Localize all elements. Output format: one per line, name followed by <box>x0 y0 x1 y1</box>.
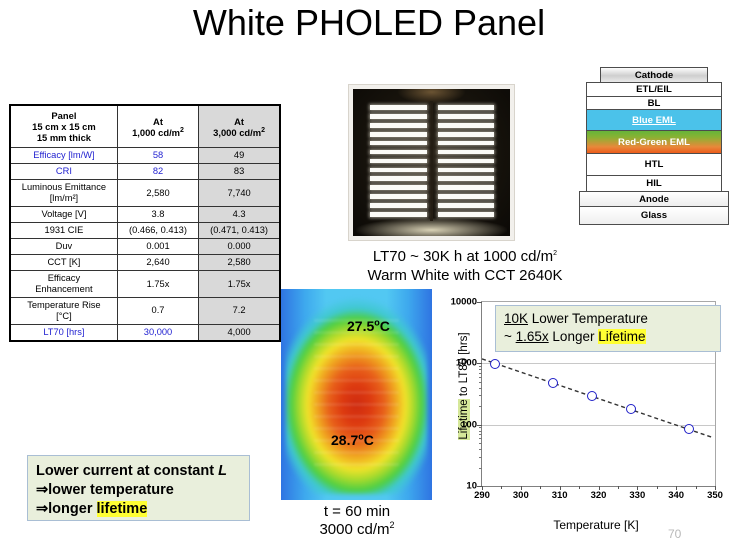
table-cell-value-3000: 4.3 <box>199 207 280 223</box>
stack-layer-bl: BL <box>586 96 722 110</box>
conclusion-note-box: Lower current at constant L ⇒lower tempe… <box>27 455 250 521</box>
table-cell-label: CRI <box>10 164 117 180</box>
stack-label-anode: Anode <box>639 194 669 205</box>
thermal-stripe-overlay <box>314 319 399 475</box>
table-row: Temperature Rise[°C]0.77.2 <box>10 297 280 324</box>
chart-x-tick-mark <box>599 486 600 490</box>
chart-x-tick-label: 350 <box>707 490 723 501</box>
chart-y-tick-label: 10000 <box>451 297 477 308</box>
table-header-row: Panel 15 cm x 15 cm 15 mm thick At 1,000… <box>10 105 280 148</box>
photo-center-divider <box>430 101 433 222</box>
annot-line2-mid: Longer <box>549 329 599 344</box>
note-line-1-italic: L <box>218 463 227 479</box>
oled-stack-diagram: Cathode ETL/EIL BL Blue EML Red-Green EM… <box>578 68 730 225</box>
stack-label-htl: HTL <box>645 159 664 170</box>
table-header-panel: Panel 15 cm x 15 cm 15 mm thick <box>10 105 117 148</box>
header-lum-1: 1,000 cd/m <box>132 127 180 138</box>
chart-x-tick-label: 340 <box>668 490 684 501</box>
stack-label-bl: BL <box>648 98 661 109</box>
chart-x-minor-tick <box>618 486 619 489</box>
temp-bottom-unit: C <box>364 432 374 448</box>
chart-x-minor-tick <box>540 486 541 489</box>
chart-x-tick-mark <box>637 486 638 490</box>
thermal-temp-top: 27.5oC <box>347 318 390 334</box>
thermal-caption: t = 60 min 3000 cd/m2 <box>272 503 442 540</box>
table-cell-value-1000: 30,000 <box>117 324 198 340</box>
table-cell-value-3000: 49 <box>199 148 280 164</box>
table-cell-label: Temperature Rise[°C] <box>10 297 117 324</box>
table-cell-label: 1931 CIE <box>10 223 117 239</box>
header-sup-2: 2 <box>261 127 265 134</box>
note-line-1: Lower current at constant <box>36 463 218 479</box>
header-sup-1: 2 <box>180 127 184 134</box>
thermal-caption-line-2: 3000 cd/m <box>319 521 389 538</box>
thermal-caption-line-1: t = 60 min <box>324 503 390 520</box>
chart-x-tick-label: 310 <box>552 490 568 501</box>
table-row: Voltage [V]3.84.3 <box>10 207 280 223</box>
lifetime-vs-temperature-chart: Lifetime to LT80 [hrs] 10100100010000290… <box>443 292 735 547</box>
chart-x-minor-tick <box>696 486 697 489</box>
note-line-3: ⇒longer <box>36 501 97 517</box>
table-row: 1931 CIE(0.466, 0.413)(0.471, 0.413) <box>10 223 280 239</box>
table-cell-value-1000: 1.75x <box>117 271 198 298</box>
table-cell-value-1000: 3.8 <box>117 207 198 223</box>
panel-specification-table: Panel 15 cm x 15 cm 15 mm thick At 1,000… <box>9 104 281 342</box>
table-cell-value-1000: 2,640 <box>117 255 198 271</box>
chart-x-tick-mark <box>676 486 677 490</box>
chart-x-tick-label: 320 <box>591 490 607 501</box>
table-cell-value-3000: 1.75x <box>199 271 280 298</box>
slide-canvas: White PHOLED Panel Panel 15 cm x 15 cm 1… <box>0 0 738 550</box>
stack-label-glass: Glass <box>641 210 667 221</box>
table-cell-label: EfficacyEnhancement <box>10 271 117 298</box>
table-cell-value-3000: 7,740 <box>199 180 280 207</box>
temp-top-value: 27.5 <box>347 318 374 334</box>
stack-layer-blue-eml: Blue EML <box>586 109 722 131</box>
stack-label-blue-eml: Blue EML <box>632 115 676 126</box>
caption-sup-1: 2 <box>553 250 557 257</box>
page-number: 70 <box>668 527 681 541</box>
table-cell-label: Efficacy [lm/W] <box>10 148 117 164</box>
page-title: White PHOLED Panel <box>0 2 738 44</box>
chart-annotation-box: 10K Lower Temperature ~ 1.65x Longer Lif… <box>495 305 721 352</box>
chart-x-tick-label: 330 <box>629 490 645 501</box>
table-cell-value-1000: 0.7 <box>117 297 198 324</box>
chart-y-tick-label: 100 <box>461 419 477 430</box>
chart-x-tick-label: 290 <box>474 490 490 501</box>
temp-top-unit: C <box>380 318 390 334</box>
chart-x-minor-tick <box>579 486 580 489</box>
stack-layer-cathode: Cathode <box>600 67 708 83</box>
stack-label-hil: HIL <box>646 178 661 189</box>
table-cell-label: CCT [K] <box>10 255 117 271</box>
chart-y-tick-label: 1000 <box>456 358 477 369</box>
chart-x-axis-label: Temperature [K] <box>467 518 725 532</box>
chart-x-tick-mark <box>482 486 483 490</box>
table-cell-value-3000: 0.000 <box>199 239 280 255</box>
table-row: LT70 [hrs]30,0004,000 <box>10 324 280 340</box>
table-cell-label: Luminous Emittance[lm/m²] <box>10 180 117 207</box>
stack-label-etl-eil: ETL/EIL <box>636 84 672 95</box>
table-cell-value-1000: 0.001 <box>117 239 198 255</box>
thermal-temp-bottom: 28.7oC <box>331 432 374 448</box>
table-cell-value-3000: (0.471, 0.413) <box>199 223 280 239</box>
table-cell-label: LT70 [hrs] <box>10 324 117 340</box>
stack-label-cathode: Cathode <box>635 70 673 81</box>
table-row: Duv0.0010.000 <box>10 239 280 255</box>
oled-panel-photo <box>348 84 515 241</box>
table-row: EfficacyEnhancement1.75x1.75x <box>10 271 280 298</box>
chart-data-point <box>548 378 558 388</box>
table-cell-value-1000: 82 <box>117 164 198 180</box>
table-cell-value-1000: 2,580 <box>117 180 198 207</box>
table-cell-label: Voltage [V] <box>10 207 117 223</box>
table-cell-label: Duv <box>10 239 117 255</box>
table-row: CRI8283 <box>10 164 280 180</box>
table-header-1000: At 1,000 cd/m2 <box>117 105 198 148</box>
temp-bottom-value: 28.7 <box>331 432 358 448</box>
stack-label-red-green-eml: Red-Green EML <box>618 137 690 148</box>
annot-line2-highlight: Lifetime <box>598 329 645 344</box>
table-cell-value-3000: 7.2 <box>199 297 280 324</box>
stack-layer-htl: HTL <box>586 153 722 176</box>
photo-inner <box>353 89 510 236</box>
table-row: Luminous Emittance[lm/m²]2,5807,740 <box>10 180 280 207</box>
note-line-2: ⇒lower temperature <box>36 482 174 498</box>
chart-x-tick-label: 300 <box>513 490 529 501</box>
photo-caption: LT70 ~ 30K h at 1000 cd/m2 Warm White wi… <box>330 248 600 285</box>
table-cell-value-3000: 2,580 <box>199 255 280 271</box>
table-cell-value-1000: (0.466, 0.413) <box>117 223 198 239</box>
photo-strip-column-left <box>370 105 427 217</box>
stack-layer-hil: HIL <box>586 175 722 192</box>
header-at-2: At <box>234 116 244 127</box>
header-at-1: At <box>153 116 163 127</box>
table-cell-value-3000: 4,000 <box>199 324 280 340</box>
chart-y-axis-label: Lifetime to LT80 [hrs] <box>458 311 470 461</box>
chart-x-tick-mark <box>560 486 561 490</box>
header-line-3: 15 mm thick <box>37 132 91 143</box>
annot-line2-underline: 1.65x <box>516 329 549 344</box>
header-line-1: Panel <box>51 110 76 121</box>
header-line-2: 15 cm x 15 cm <box>32 121 96 132</box>
annot-line1-underline: 10K <box>504 311 528 326</box>
caption-line-2: Warm White with CCT 2640K <box>367 267 562 284</box>
chart-x-minor-tick <box>501 486 502 489</box>
thermal-caption-sup: 2 <box>390 520 395 530</box>
stack-layer-etl-eil: ETL/EIL <box>586 82 722 97</box>
table-row: Efficacy [lm/W]5849 <box>10 148 280 164</box>
table-row: CCT [K]2,6402,580 <box>10 255 280 271</box>
annot-line2-pre: ~ <box>504 329 516 344</box>
note-line-3-highlight: lifetime <box>97 501 148 517</box>
chart-data-point <box>626 404 636 414</box>
table-cell-value-3000: 83 <box>199 164 280 180</box>
caption-line-1: LT70 ~ 30K h at 1000 cd/m <box>373 248 553 265</box>
chart-x-tick-mark <box>521 486 522 490</box>
chart-data-point <box>490 359 500 369</box>
chart-x-minor-tick <box>657 486 658 489</box>
stack-layer-anode: Anode <box>579 191 729 207</box>
chart-x-tick-mark <box>715 486 716 490</box>
table-header-3000: At 3,000 cd/m2 <box>199 105 280 148</box>
annot-line1-rest: Lower Temperature <box>528 311 648 326</box>
stack-layer-red-green-eml: Red-Green EML <box>586 130 722 154</box>
header-lum-2: 3,000 cd/m <box>213 127 261 138</box>
stack-layer-glass: Glass <box>579 206 729 225</box>
table-cell-value-1000: 58 <box>117 148 198 164</box>
thermal-image: 27.5oC 28.7oC <box>281 289 432 500</box>
photo-strip-column-right <box>438 105 495 217</box>
